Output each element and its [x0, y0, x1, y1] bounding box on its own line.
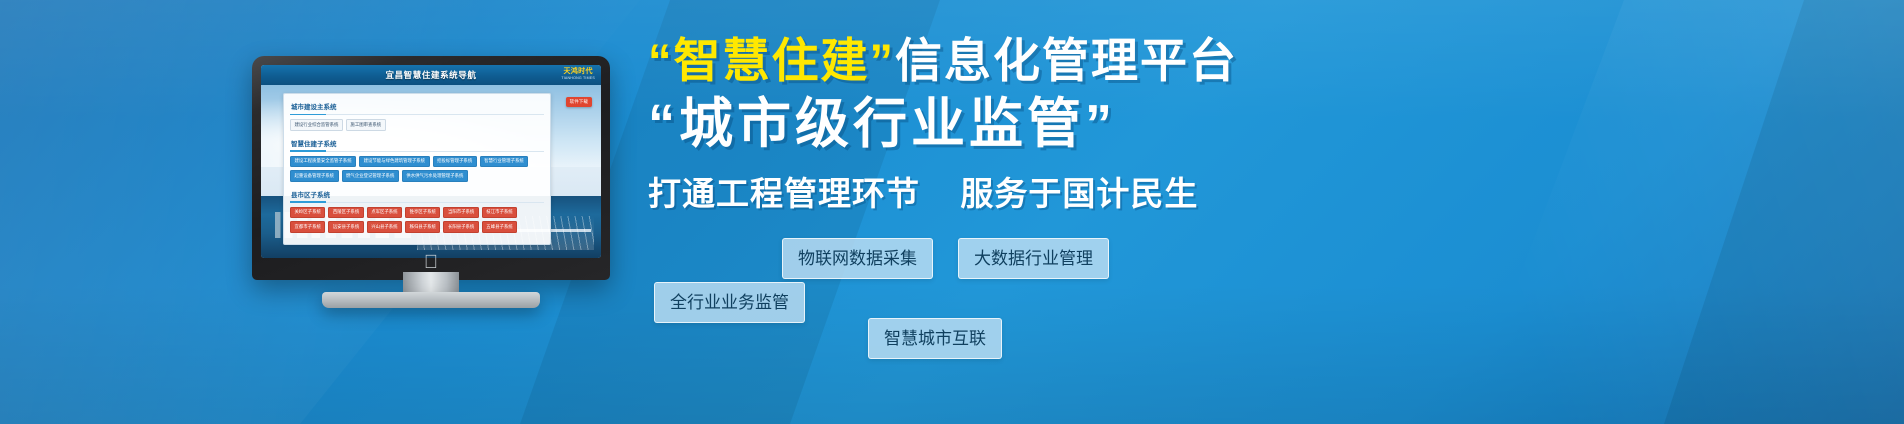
- nav-chip[interactable]: 远安县子系统: [328, 221, 363, 233]
- promo-banner: 宜昌智慧住建系统导航 天鸿时代 TIANHONG TIMES 软件下载 城市建设…: [0, 0, 1904, 424]
- section-title-1: 智慧住建子系统: [290, 136, 544, 152]
- nav-chip[interactable]: 点军区子系统: [367, 207, 402, 219]
- nav-chip[interactable]: 建设工程质量安全监管子系统: [290, 156, 356, 168]
- headline-line-1-rest: 信息化管理平台: [895, 34, 1238, 87]
- headline-line-1-highlight: “智慧住建”: [648, 34, 895, 87]
- feature-pill-group: 物联网数据采集 大数据行业管理 全行业业务监管 智慧城市互联: [640, 232, 1200, 362]
- screen-header-bar: 宜昌智慧住建系统导航 天鸿时代 TIANHONG TIMES: [261, 65, 601, 85]
- monitor-neck: [403, 272, 459, 294]
- nav-chip[interactable]: 秭归县子系统: [405, 221, 440, 233]
- headline-block: “智慧住建”信息化管理平台 “城市级行业监管” 打通工程管理环节 服务于国计民生: [648, 34, 1828, 215]
- nav-chip[interactable]: 智慧行业管理子系统: [480, 156, 529, 168]
- section-items-2: 关岭区子系统 西陵区子系统 点军区子系统 猚亭区子系统 当阳市子系统 枝江市子系…: [290, 207, 544, 233]
- monitor-bezel: 宜昌智慧住建系统导航 天鸿时代 TIANHONG TIMES 软件下载 城市建设…: [252, 56, 610, 280]
- nav-chip[interactable]: 燃气企业登记管理子系统: [342, 170, 399, 182]
- nav-chip[interactable]: 宜都市子系统: [290, 221, 325, 233]
- screen-title: 宜昌智慧住建系统导航: [261, 69, 601, 81]
- screen-logo: 天鸿时代 TIANHONG TIMES: [561, 68, 595, 80]
- feature-pill-smart-city-connect[interactable]: 智慧城市互联: [868, 318, 1002, 359]
- nav-chip[interactable]: 枝江市子系统: [482, 207, 517, 219]
- section-items-0: 建设行业综合监管系统 施工图审查系统: [290, 119, 544, 131]
- nav-chip[interactable]: 猚亭区子系统: [405, 207, 440, 219]
- nav-chip[interactable]: 五峰县子系统: [482, 221, 517, 233]
- section-title-2: 县市区子系统: [290, 187, 544, 203]
- software-download-button[interactable]: 软件下载: [566, 97, 592, 107]
- feature-pill-full-industry-supervision[interactable]: 全行业业务监管: [654, 282, 805, 323]
- nav-chip[interactable]: 当阳市子系统: [443, 207, 478, 219]
- monitor-stand: [322, 292, 540, 308]
- nav-chip[interactable]: 供水供气污水处理管理子系统: [402, 170, 468, 182]
- section-items-1: 建设工程质量安全监管子系统 建设节能与绿色建筑管理子系统 招投标管理子系统 智慧…: [290, 156, 544, 182]
- headline-line-3-b: 服务于国计民生: [960, 175, 1198, 212]
- headline-line-3: 打通工程管理环节 服务于国计民生: [648, 167, 1828, 215]
- screen-logo-sub: TIANHONG TIMES: [561, 77, 595, 81]
- nav-chip[interactable]: 起重设备管理子系统: [290, 170, 339, 182]
- apple-logo-icon: : [424, 253, 438, 272]
- headline-line-3-a: 打通工程管理环节: [648, 175, 920, 212]
- screen-logo-main: 天鸿时代: [561, 68, 595, 75]
- feature-pill-bigdata-industry[interactable]: 大数据行业管理: [958, 238, 1109, 279]
- nav-chip[interactable]: 建设行业综合监管系统: [290, 119, 343, 131]
- nav-chip[interactable]: 关岭区子系统: [290, 207, 325, 219]
- nav-chip[interactable]: 建设节能与绿色建筑管理子系统: [359, 156, 429, 168]
- monitor-illustration: 宜昌智慧住建系统导航 天鸿时代 TIANHONG TIMES 软件下载 城市建设…: [252, 56, 610, 306]
- nav-chip[interactable]: 兴山县子系统: [367, 221, 402, 233]
- nav-chip[interactable]: 西陵区子系统: [328, 207, 363, 219]
- feature-pill-iot-data[interactable]: 物联网数据采集: [782, 238, 933, 279]
- monitor-screen: 宜昌智慧住建系统导航 天鸿时代 TIANHONG TIMES 软件下载 城市建设…: [261, 65, 601, 258]
- nav-chip[interactable]: 长阳县子系统: [443, 221, 478, 233]
- headline-line-2: “城市级行业监管”: [648, 92, 1828, 157]
- headline-line-1: “智慧住建”信息化管理平台: [648, 34, 1828, 88]
- screen-nav-panel: 城市建设主系统 建设行业综合监管系统 施工图审查系统 智慧住建子系统 建设工程质…: [283, 93, 551, 245]
- nav-chip[interactable]: 招投标管理子系统: [433, 156, 477, 168]
- section-title-0: 城市建设主系统: [290, 99, 544, 115]
- nav-chip[interactable]: 施工图审查系统: [346, 119, 386, 131]
